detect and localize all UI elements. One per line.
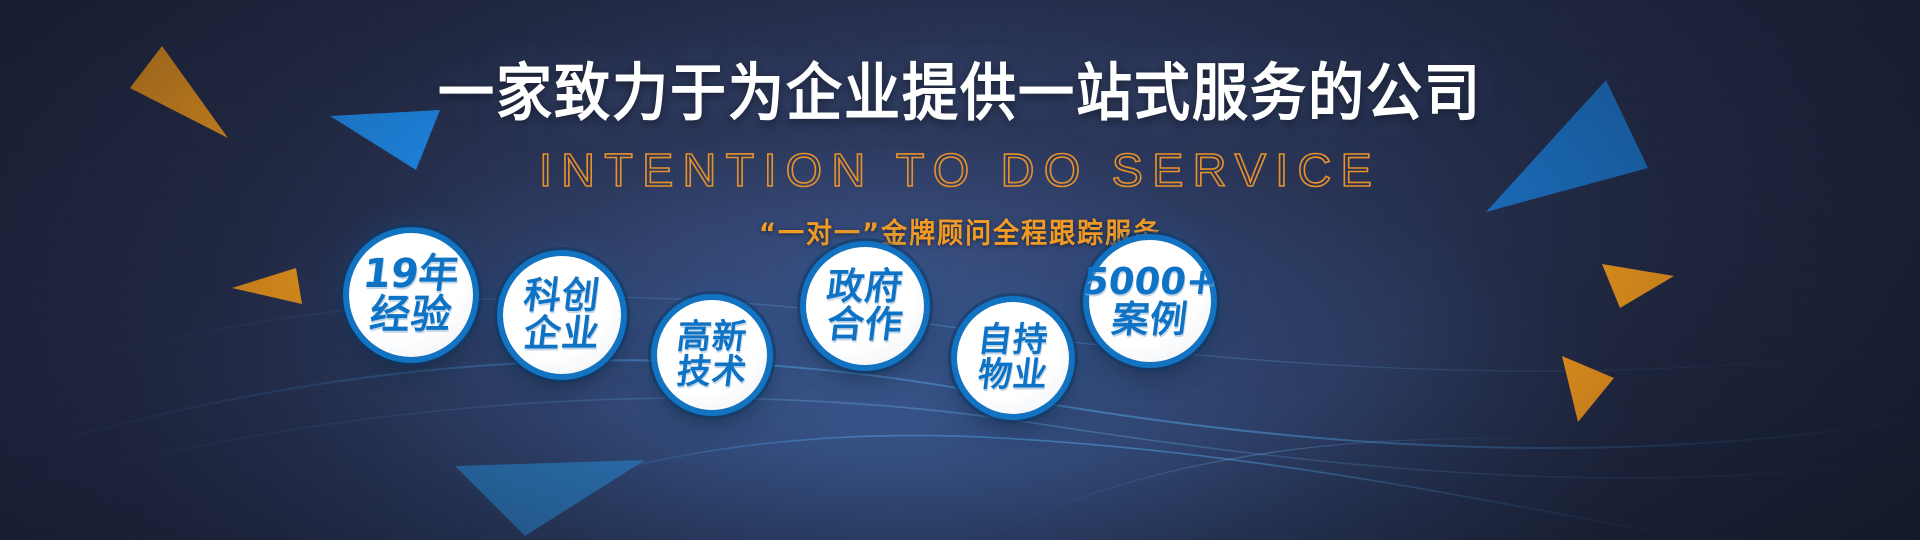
badge-line-1: 政府 xyxy=(825,268,906,306)
badge-line-1: 科创 xyxy=(522,277,603,315)
badge-case-count[interactable]: 5000+ 案例 xyxy=(1089,240,1211,362)
badge-gov-cooperation[interactable]: 政府 合作 xyxy=(806,247,924,365)
badge-line-1: 5000+ xyxy=(1081,263,1220,301)
badge-line-2: 经验 xyxy=(367,295,454,336)
hero-banner: 一家致力于为企业提供一站式服务的公司 INTENTION TO DO SERVI… xyxy=(0,0,1920,540)
badge-row: 19年 经验 科创 企业 高新 技术 政府 合作 自持 物业 5000+ 案例 xyxy=(0,0,1920,540)
badge-line-2: 合作 xyxy=(825,306,906,344)
badge-tech-startup[interactable]: 科创 企业 xyxy=(503,256,621,374)
badge-line-1: 高新 xyxy=(675,320,749,355)
badge-line-1: 自持 xyxy=(976,323,1050,358)
badge-line-2: 物业 xyxy=(976,358,1050,393)
badge-line-2: 企业 xyxy=(522,315,603,353)
badge-line-2: 技术 xyxy=(675,355,749,390)
badge-own-property[interactable]: 自持 物业 xyxy=(957,302,1069,414)
badge-high-tech[interactable]: 高新 技术 xyxy=(657,300,767,410)
badge-line-2: 案例 xyxy=(1110,301,1191,339)
badge-years-experience[interactable]: 19年 经验 xyxy=(349,233,473,357)
badge-line-1: 19年 xyxy=(361,254,462,295)
